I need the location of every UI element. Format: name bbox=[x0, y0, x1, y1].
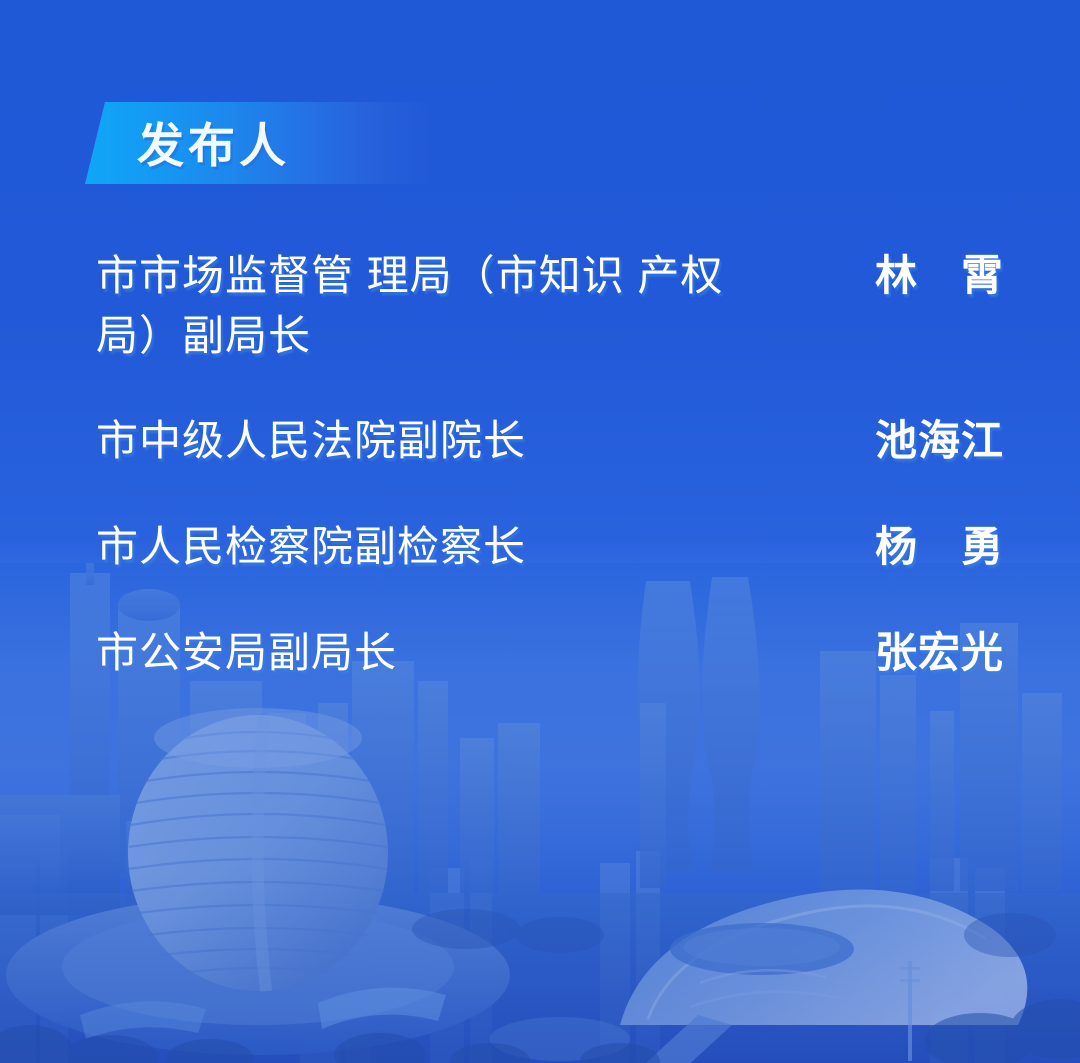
announcement-poster: 发布人 市市场监督管 理局（市知识 产权局）副局长 林 霄 市中级人民法院副院长… bbox=[0, 0, 1080, 1063]
section-banner: 发布人 bbox=[85, 102, 430, 184]
speaker-name: 张宏光 bbox=[844, 623, 1004, 683]
speaker-list: 市市场监督管 理局（市知识 产权局）副局长 林 霄 市中级人民法院副院长 池海江… bbox=[96, 246, 1004, 682]
speaker-row: 市市场监督管 理局（市知识 产权局）副局长 林 霄 bbox=[96, 246, 1004, 365]
speaker-row: 市中级人民法院副院长 池海江 bbox=[96, 411, 1004, 471]
speaker-title: 市中级人民法院副院长 bbox=[96, 411, 526, 471]
speaker-name: 杨 勇 bbox=[844, 517, 1004, 577]
speaker-name: 池海江 bbox=[844, 411, 1004, 471]
speaker-name: 林 霄 bbox=[844, 246, 1004, 306]
speaker-row: 市人民检察院副检察长 杨 勇 bbox=[96, 517, 1004, 577]
speaker-title: 市市场监督管 理局（市知识 产权局）副局长 bbox=[96, 246, 756, 365]
speaker-title: 市公安局副局长 bbox=[96, 623, 397, 683]
speaker-title: 市人民检察院副检察长 bbox=[96, 517, 526, 577]
banner-title: 发布人 bbox=[137, 107, 290, 176]
speaker-row: 市公安局副局长 张宏光 bbox=[96, 623, 1004, 683]
